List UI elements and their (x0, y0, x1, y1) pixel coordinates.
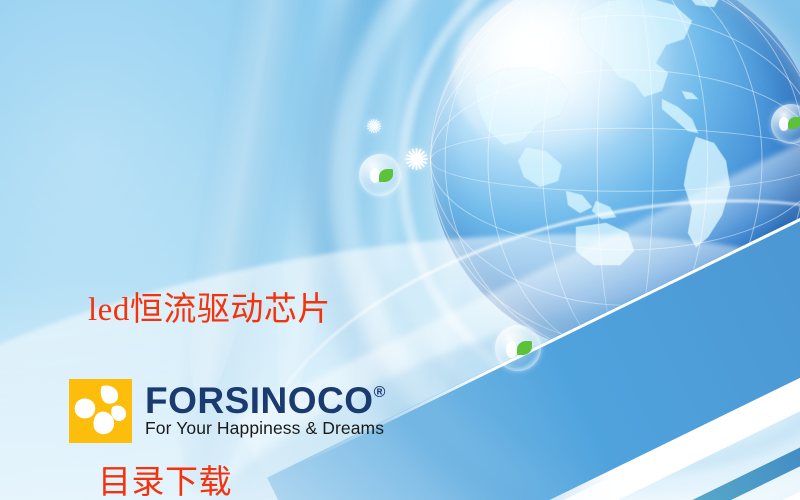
four-petal-pinwheel-icon (69, 379, 132, 443)
bubble-leaf-white-2 (506, 341, 517, 358)
city-skyline-icon (680, 190, 800, 300)
headline-line-1: led恒流驱动芯片 (88, 282, 428, 340)
globe-meridian-3 (488, 0, 763, 357)
globe-rim-light (430, 0, 800, 355)
bubble-leaf-green-2 (517, 341, 532, 355)
logo-tagline: For Your Happiness & Dreams (145, 418, 384, 438)
globe-sphere (430, 0, 800, 355)
globe-meridian-1 (597, 0, 654, 357)
globe-meridian-4 (445, 0, 800, 357)
globe-meridian-2 (542, 0, 708, 357)
headline-line-2: 目录下载 (88, 455, 428, 500)
globe-highlight (453, 0, 679, 168)
registered-trademark-icon: ® (374, 385, 386, 401)
corner-ribbon-teal (516, 358, 800, 500)
globe-parallel-3 (430, 15, 800, 306)
globe-graphic (430, 0, 800, 355)
headline: led恒流驱动芯片 目录下载 (88, 166, 428, 500)
bubble-icon-3 (771, 104, 800, 144)
logo-wordmark: FORSINOCO ® (145, 383, 386, 419)
background-streak-4 (421, 0, 499, 400)
globe-parallel-4 (430, 0, 800, 344)
logo-wordmark-text: FORSINOCO (145, 383, 374, 419)
globe-parallel-2 (430, 69, 800, 250)
globe-continents (430, 0, 800, 355)
corner-ribbon-white (423, 298, 800, 500)
promo-banner: ✺ ✺ led恒流驱动芯片 目录下载 (0, 0, 800, 500)
brand-logo: FORSINOCO ® For Your Happiness & Dreams (69, 379, 386, 443)
flower-icon-b: ✺ (366, 118, 382, 137)
background-arc-inner (398, 0, 800, 422)
bubble-leaf-white-3 (779, 117, 789, 131)
globe-parallel-1 (430, 128, 800, 192)
logo-text-block: FORSINOCO ® For Your Happiness & Dreams (145, 383, 386, 439)
bubble-icon-2 (495, 325, 541, 371)
corner-ribbon-white-2 (547, 387, 800, 500)
bubble-leaf-green-3 (788, 117, 800, 129)
